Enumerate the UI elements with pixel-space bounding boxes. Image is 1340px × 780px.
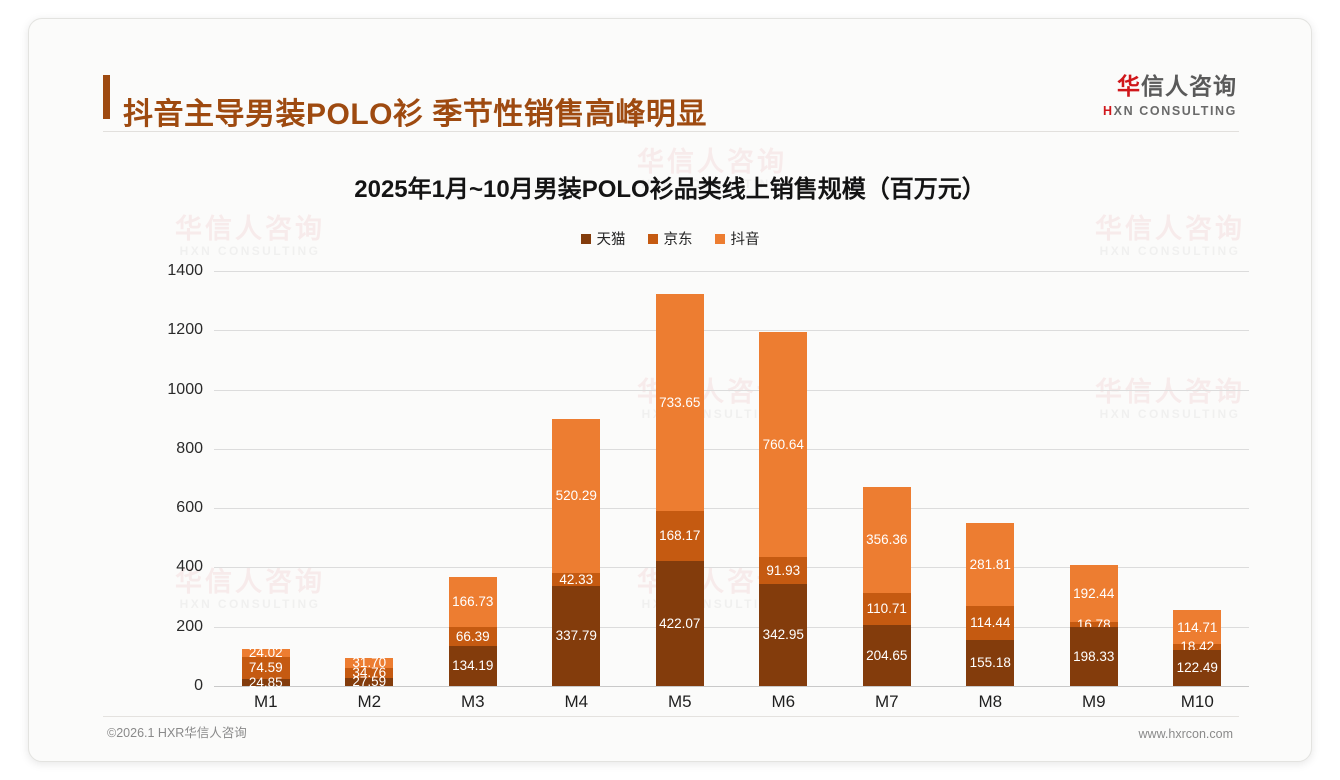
bar-segment-抖音[interactable]: 733.65 xyxy=(656,294,704,511)
bar-segment-抖音[interactable]: 24.02 xyxy=(242,649,290,656)
bar-segment-抖音[interactable]: 192.44 xyxy=(1070,565,1118,622)
x-axis-tick-label: M10 xyxy=(1146,692,1250,712)
y-axis-tick-label: 600 xyxy=(133,499,203,517)
bar-group-M2[interactable]: 31.7034.7627.59M2 xyxy=(318,271,422,686)
chart-plot-area: 1400120010008006004002000 24.0274.5924.8… xyxy=(214,271,1249,686)
x-axis-tick-label: M2 xyxy=(318,692,422,712)
bar-value-label: 114.71 xyxy=(1177,621,1217,635)
y-axis-tick-label: 1200 xyxy=(133,321,203,339)
bar-stack: 520.2942.33337.79 xyxy=(552,419,600,686)
bar-value-label: 166.73 xyxy=(452,595,493,609)
bar-value-label: 91.93 xyxy=(766,564,800,578)
bar-segment-京东[interactable]: 66.39 xyxy=(449,627,497,647)
bar-segment-天猫[interactable]: 342.95 xyxy=(759,584,807,686)
legend-swatch-icon xyxy=(648,234,658,244)
page-title: 抖音主导男装POLO衫 季节性销售高峰明显 xyxy=(123,89,707,133)
bar-segment-京东[interactable]: 168.17 xyxy=(656,511,704,561)
y-axis-tick-label: 0 xyxy=(133,677,203,695)
bar-value-label: 337.79 xyxy=(556,629,597,643)
bar-group-M8[interactable]: 281.81114.44155.18M8 xyxy=(939,271,1043,686)
brand-logo: 华信人咨询 HXN CONSULTING xyxy=(1103,75,1237,118)
slide-header: 抖音主导男装POLO衫 季节性销售高峰明显 华信人咨询 HXN CONSULTI… xyxy=(29,19,1311,123)
footer-website: www.hxrcon.com xyxy=(1139,727,1233,741)
x-axis-tick-label: M9 xyxy=(1042,692,1146,712)
y-axis-tick-label: 200 xyxy=(133,618,203,636)
bar-group-M9[interactable]: 192.4416.78198.33M9 xyxy=(1042,271,1146,686)
footer-copyright: ©2026.1 HXR华信人咨询 xyxy=(107,722,247,741)
bar-group-M5[interactable]: 733.65168.17422.07M5 xyxy=(628,271,732,686)
bar-segment-天猫[interactable]: 337.79 xyxy=(552,586,600,686)
bar-group-M10[interactable]: 114.7118.42122.49M10 xyxy=(1146,271,1250,686)
bar-stack: 24.0274.5924.85 xyxy=(242,649,290,686)
bar-value-label: 42.33 xyxy=(559,573,593,587)
y-axis-tick-label: 400 xyxy=(133,558,203,576)
legend-item-抖音[interactable]: 抖音 xyxy=(715,228,760,249)
bar-segment-天猫[interactable]: 122.49 xyxy=(1173,650,1221,686)
x-axis-tick-label: M7 xyxy=(835,692,939,712)
bar-group-M3[interactable]: 166.7366.39134.19M3 xyxy=(421,271,525,686)
bar-stack: 31.7034.7627.59 xyxy=(345,658,393,686)
x-axis-tick-label: M8 xyxy=(939,692,1043,712)
bar-group-M6[interactable]: 760.6491.93342.95M6 xyxy=(732,271,836,686)
bar-value-label: 342.95 xyxy=(763,628,804,642)
legend-item-天猫[interactable]: 天猫 xyxy=(581,228,626,249)
logo-english-text: HXN CONSULTING xyxy=(1103,105,1237,118)
bar-value-label: 204.65 xyxy=(866,649,907,663)
x-axis-tick-label: M1 xyxy=(214,692,318,712)
logo-en-red: H xyxy=(1103,104,1114,118)
bar-value-label: 110.71 xyxy=(867,602,907,616)
x-axis-tick-label: M3 xyxy=(421,692,525,712)
logo-en-rest: XN CONSULTING xyxy=(1114,104,1237,118)
legend-label: 天猫 xyxy=(597,228,626,249)
bar-value-label: 356.36 xyxy=(866,533,907,547)
chart-legend: 天猫京东抖音 xyxy=(29,228,1311,249)
bar-segment-天猫[interactable]: 27.59 xyxy=(345,678,393,686)
bar-value-label: 192.44 xyxy=(1073,587,1114,601)
bar-stack: 166.7366.39134.19 xyxy=(449,577,497,686)
bar-segment-天猫[interactable]: 134.19 xyxy=(449,646,497,686)
legend-label: 京东 xyxy=(664,228,693,249)
bar-value-label: 422.07 xyxy=(659,617,700,631)
bar-group-M4[interactable]: 520.2942.33337.79M4 xyxy=(525,271,629,686)
bar-value-label: 155.18 xyxy=(970,656,1011,670)
logo-cn-rest: 信人咨询 xyxy=(1141,73,1237,99)
legend-item-京东[interactable]: 京东 xyxy=(648,228,693,249)
bar-segment-天猫[interactable]: 198.33 xyxy=(1070,627,1118,686)
bar-value-label: 24.85 xyxy=(249,676,283,690)
bar-value-label: 122.49 xyxy=(1177,661,1218,675)
y-axis-tick-label: 800 xyxy=(133,440,203,458)
header-divider xyxy=(103,131,1239,132)
bar-segment-天猫[interactable]: 204.65 xyxy=(863,625,911,686)
bar-segment-抖音[interactable]: 356.36 xyxy=(863,487,911,593)
legend-label: 抖音 xyxy=(731,228,760,249)
logo-cn-red: 华 xyxy=(1117,73,1141,99)
footer-divider xyxy=(103,716,1239,717)
x-axis-tick-label: M5 xyxy=(628,692,732,712)
bar-value-label: 66.39 xyxy=(456,630,490,644)
slide-canvas: 华信人咨询 HXN CONSULTING 华信人咨询 HXN CONSULTIN… xyxy=(28,18,1312,762)
bar-value-label: 74.59 xyxy=(249,661,283,675)
y-axis-tick-label: 1400 xyxy=(133,262,203,280)
bar-segment-京东[interactable]: 110.71 xyxy=(863,593,911,626)
bar-stack: 114.7118.42122.49 xyxy=(1173,610,1221,686)
bar-group-M7[interactable]: 356.36110.71204.65M7 xyxy=(835,271,939,686)
bar-value-label: 733.65 xyxy=(659,396,700,410)
bar-segment-抖音[interactable]: 520.29 xyxy=(552,419,600,573)
bar-segment-抖音[interactable]: 281.81 xyxy=(966,523,1014,607)
legend-swatch-icon xyxy=(581,234,591,244)
bar-series-layer: 24.0274.5924.85M131.7034.7627.59M2166.73… xyxy=(214,271,1249,686)
bar-value-label: 114.44 xyxy=(970,616,1010,630)
bar-stack: 192.4416.78198.33 xyxy=(1070,565,1118,686)
x-axis-tick-label: M6 xyxy=(732,692,836,712)
bar-segment-天猫[interactable]: 155.18 xyxy=(966,640,1014,686)
bar-stack: 281.81114.44155.18 xyxy=(966,523,1014,686)
bar-segment-天猫[interactable]: 24.85 xyxy=(242,679,290,686)
bar-value-label: 198.33 xyxy=(1073,650,1114,664)
bar-value-label: 281.81 xyxy=(970,558,1011,572)
logo-chinese-text: 华信人咨询 xyxy=(1103,75,1237,98)
bar-value-label: 520.29 xyxy=(556,489,597,503)
bar-value-label: 168.17 xyxy=(659,529,700,543)
bar-segment-天猫[interactable]: 422.07 xyxy=(656,561,704,686)
bar-segment-抖音[interactable]: 166.73 xyxy=(449,577,497,626)
y-axis-tick-label: 1000 xyxy=(133,381,203,399)
bar-value-label: 27.59 xyxy=(352,675,386,689)
legend-swatch-icon xyxy=(715,234,725,244)
x-axis-tick-label: M4 xyxy=(525,692,629,712)
header-accent-bar xyxy=(103,75,110,119)
bar-segment-抖音[interactable]: 760.64 xyxy=(759,332,807,557)
bar-value-label: 134.19 xyxy=(452,659,493,673)
bar-group-M1[interactable]: 24.0274.5924.85M1 xyxy=(214,271,318,686)
bar-stack: 356.36110.71204.65 xyxy=(863,487,911,686)
chart-title: 2025年1月~10月男装POLO衫品类线上销售规模（百万元） xyxy=(29,169,1311,204)
bar-stack: 733.65168.17422.07 xyxy=(656,294,704,686)
bar-stack: 760.6491.93342.95 xyxy=(759,332,807,686)
bar-segment-京东[interactable]: 42.33 xyxy=(552,573,600,586)
bar-value-label: 760.64 xyxy=(763,438,804,452)
bar-segment-京东[interactable]: 114.44 xyxy=(966,606,1014,640)
bar-segment-京东[interactable]: 91.93 xyxy=(759,557,807,584)
